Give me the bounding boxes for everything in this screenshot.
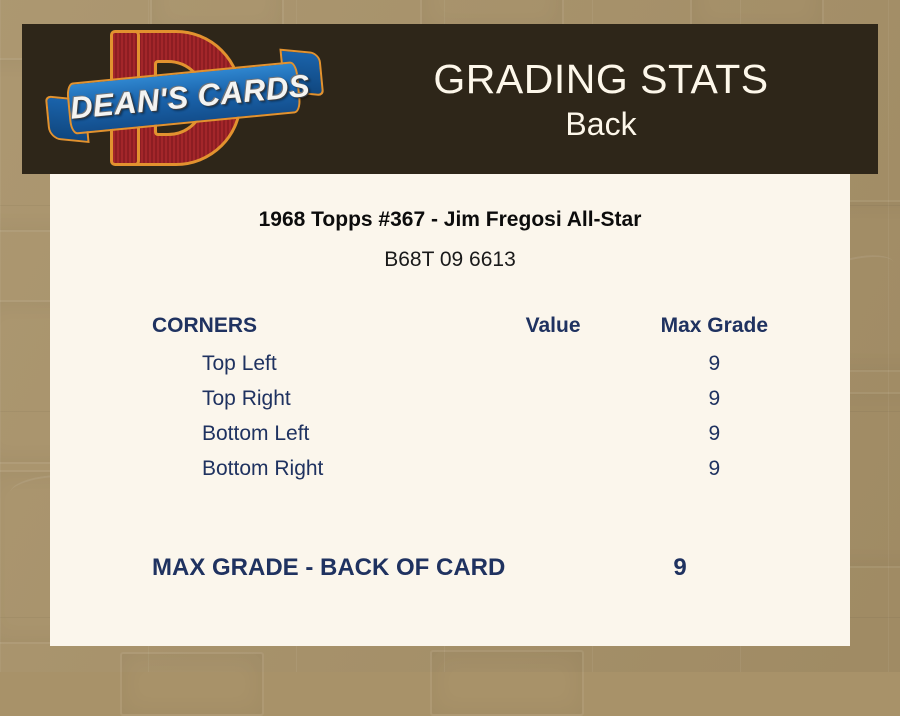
row-label: Bottom Left [50,416,475,451]
table-body: Top Left 9 Top Right 9 Bottom Left 9 Bot… [50,346,850,486]
row-value [475,416,632,451]
row-value [475,381,632,416]
table-row: Bottom Left 9 [50,416,850,451]
row-label: Top Right [50,381,475,416]
summary-row: MAX GRADE - BACK OF CARD 9 [50,552,850,584]
column-header-max-grade: Max Grade [631,306,797,346]
column-header-spacer [797,306,850,346]
row-spacer [797,381,850,416]
row-max-grade: 9 [631,381,797,416]
table-header: CORNERS Value Max Grade [50,306,850,346]
column-header-value: Value [475,306,632,346]
ghost-card-decoration [120,652,264,716]
row-max-grade: 9 [631,346,797,381]
summary-value: 9 [580,552,780,584]
summary-label: MAX GRADE - BACK OF CARD [50,552,580,584]
ghost-card-decoration [430,650,584,716]
row-spacer [797,451,850,486]
row-label: Bottom Right [50,451,475,486]
page-subtitle: Back [565,105,636,143]
row-label: Top Left [50,346,475,381]
row-value [475,451,632,486]
table-row: Top Left 9 [50,346,850,381]
row-spacer [797,416,850,451]
row-spacer [797,346,850,381]
table-header-row: CORNERS Value Max Grade [50,306,850,346]
table-row: Top Right 9 [50,381,850,416]
content-panel: 1968 Topps #367 - Jim Fregosi All-Star B… [50,174,850,646]
row-max-grade: 9 [631,451,797,486]
column-header-corners: CORNERS [50,306,475,346]
logo-ribbon: DEAN'S CARDS [44,57,323,145]
table-row: Bottom Right 9 [50,451,850,486]
row-max-grade: 9 [631,416,797,451]
card-code: B68T 09 6613 [50,248,850,272]
row-value [475,346,632,381]
header-bar: DEAN'S CARDS GRADING STATS Back [22,24,878,174]
header-titles: GRADING STATS Back [324,24,878,174]
page-title: GRADING STATS [433,55,768,103]
card-title: 1968 Topps #367 - Jim Fregosi All-Star [50,208,850,232]
grading-stats-table: CORNERS Value Max Grade Top Left 9 Top R… [50,306,850,486]
deans-cards-logo: DEAN'S CARDS [42,26,324,172]
